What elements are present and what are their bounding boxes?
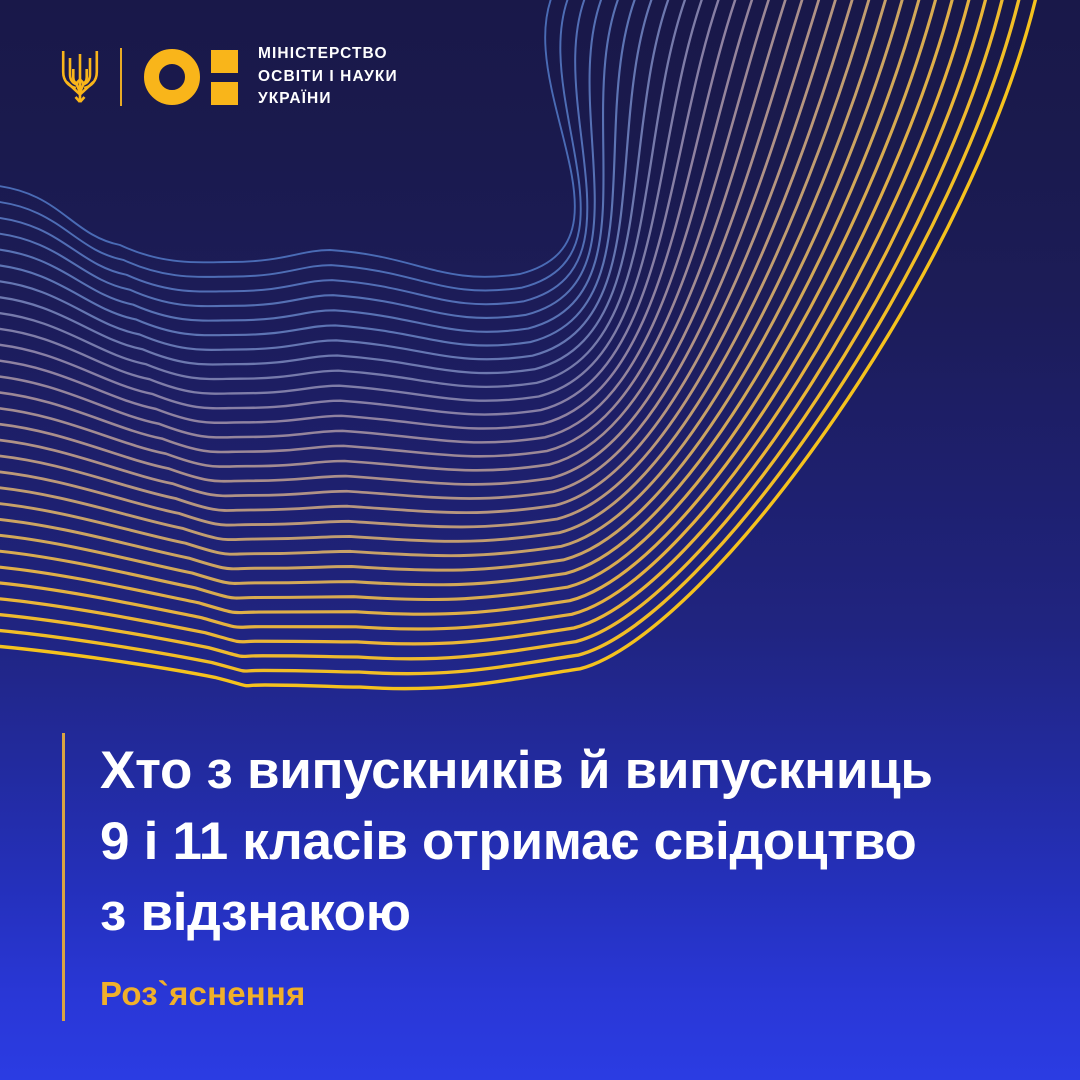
subtitle-label: Роз`яснення [100,977,933,1010]
logo-divider [120,48,122,106]
ministry-name-line-2: ОСВІТИ І НАУКИ [258,67,398,87]
ministry-name-line-3: УКРАЇНИ [258,89,398,109]
wave-line [0,0,575,277]
gold-accent-bar [62,733,65,1021]
colon-bar-bottom [211,82,238,105]
mon-o-colon-mark [144,49,238,105]
ukraine-trident-icon [60,48,100,106]
ministry-name-line-1: МІНІСТЕРСТВО [258,44,398,64]
headline-line-2: 9 і 11 класів отримає свідоцтво [100,806,933,877]
announcement-card: МІНІСТЕРСТВО ОСВІТИ І НАУКИ УКРАЇНИ Хто … [0,0,1080,1080]
headline-text-group: Хто з випускників й випускниць 9 і 11 кл… [100,733,933,1021]
o-ring-icon [144,49,200,105]
headline-block: Хто з випускників й випускниць 9 і 11 кл… [62,733,1022,1021]
colon-bars-icon [211,50,238,105]
headline-line-1: Хто з випускників й випускниць [100,735,933,806]
ministry-logo-lockup: МІНІСТЕРСТВО ОСВІТИ І НАУКИ УКРАЇНИ [60,46,398,108]
headline-line-3: з відзнакою [100,877,933,948]
ministry-name: МІНІСТЕРСТВО ОСВІТИ І НАУКИ УКРАЇНИ [258,44,398,109]
colon-bar-top [211,50,238,73]
